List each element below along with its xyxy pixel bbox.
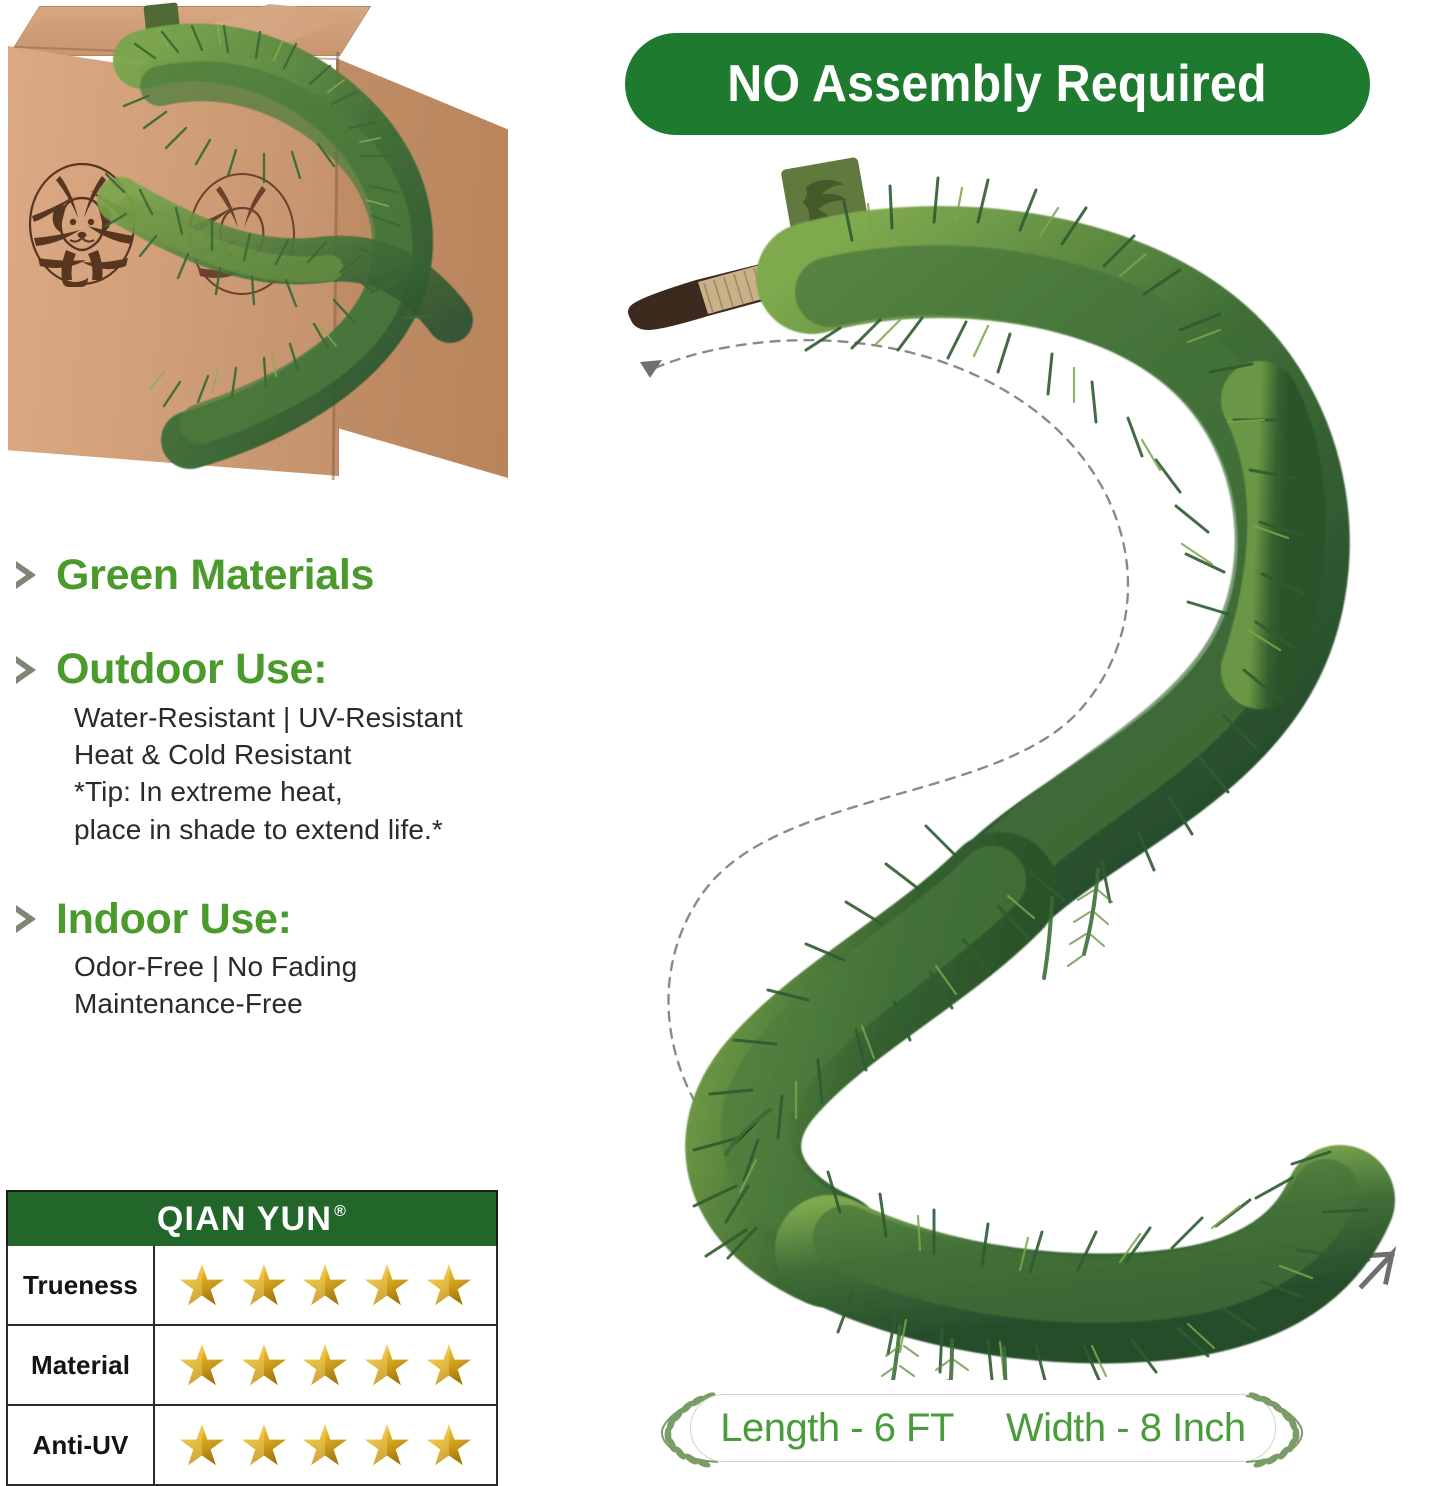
chevron-right-icon	[12, 653, 42, 687]
gold-star-icon	[426, 1342, 472, 1388]
garland-product-image	[600, 150, 1445, 1380]
feature-body: Odor-Free | No Fading Maintenance-Free	[74, 948, 512, 1022]
badge-label: NO Assembly Required	[728, 54, 1267, 114]
gold-star-icon	[426, 1422, 472, 1468]
gold-star-icon	[426, 1262, 472, 1308]
gold-star-icon	[179, 1422, 225, 1468]
row-label: Material	[8, 1326, 155, 1404]
gold-star-icon	[302, 1342, 348, 1388]
dimension-pill: Length - 6 FT Width - 8 Inch	[690, 1394, 1276, 1462]
table-row: Trueness	[6, 1246, 498, 1326]
table-row: Anti-UV	[6, 1406, 498, 1486]
gold-star-icon	[241, 1342, 287, 1388]
feature-title: Green Materials	[56, 552, 374, 598]
table-row: Material	[6, 1326, 498, 1406]
feature-line: Heat & Cold Resistant	[74, 736, 512, 773]
gold-star-icon	[302, 1262, 348, 1308]
feature-line: Water-Resistant | UV-Resistant	[74, 699, 512, 736]
row-stars	[155, 1246, 496, 1324]
laurel-branch-icon	[1238, 1390, 1312, 1468]
row-stars	[155, 1326, 496, 1404]
feature-title: Outdoor Use:	[56, 646, 327, 692]
infographic-canvas: NO Assembly Required Green Materials Out…	[0, 0, 1445, 1476]
gold-star-icon	[364, 1342, 410, 1388]
row-label: Trueness	[8, 1246, 155, 1324]
gold-star-icon	[179, 1262, 225, 1308]
gold-star-icon	[364, 1422, 410, 1468]
feature-green-materials: Green Materials	[12, 552, 512, 598]
no-assembly-badge: NO Assembly Required	[625, 33, 1370, 135]
feature-line: Maintenance-Free	[74, 985, 512, 1022]
gold-star-icon	[364, 1262, 410, 1308]
garland-svg	[600, 150, 1445, 1380]
rating-table-header: QIAN YUN®	[6, 1190, 498, 1246]
length-label: Length - 6 FT	[720, 1406, 954, 1451]
feature-list: Green Materials Outdoor Use: Water-Resis…	[12, 552, 512, 1027]
dimension-banner: Length - 6 FT Width - 8 Inch	[652, 1392, 1312, 1466]
width-label: Width - 8 Inch	[1006, 1406, 1246, 1451]
row-label: Anti-UV	[8, 1406, 155, 1484]
brand-name: QIAN YUN®	[157, 1202, 347, 1236]
garland-over-box	[60, 0, 560, 500]
spacer	[12, 602, 512, 646]
gold-star-icon	[179, 1342, 225, 1388]
brand-label: QIAN YUN	[157, 1202, 332, 1236]
spacer	[12, 852, 512, 896]
feature-line: place in shade to extend life.*	[74, 811, 512, 848]
row-stars	[155, 1406, 496, 1484]
feature-line: Odor-Free | No Fading	[74, 948, 512, 985]
rating-table: QIAN YUN® Trueness Material	[6, 1190, 498, 1486]
feature-indoor-use: Indoor Use: Odor-Free | No Fading Mainte…	[12, 896, 512, 1023]
packaging-box-image	[0, 0, 560, 500]
feature-title: Indoor Use:	[56, 896, 292, 942]
gold-star-icon	[241, 1422, 287, 1468]
feature-outdoor-use: Outdoor Use: Water-Resistant | UV-Resist…	[12, 646, 512, 847]
chevron-right-icon	[12, 902, 42, 936]
chevron-right-icon	[12, 558, 42, 592]
feature-line: *Tip: In extreme heat,	[74, 773, 512, 810]
gold-star-icon	[302, 1422, 348, 1468]
gold-star-icon	[241, 1262, 287, 1308]
registered-mark: ®	[334, 1204, 347, 1220]
feature-body: Water-Resistant | UV-Resistant Heat & Co…	[74, 699, 512, 848]
